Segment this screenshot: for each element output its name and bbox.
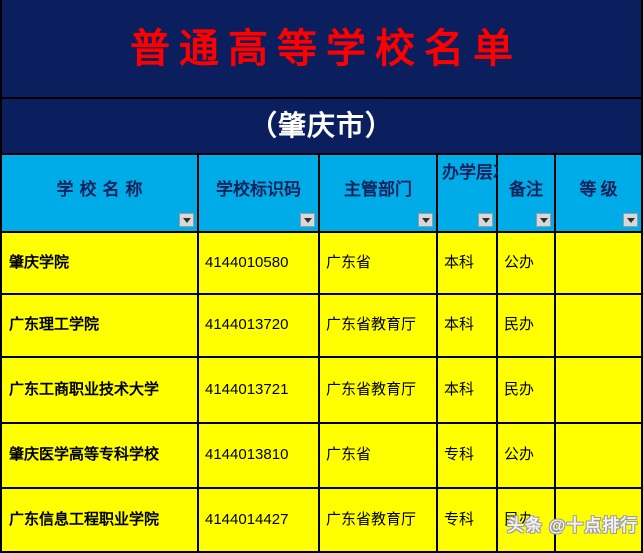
remark-text: 民办 xyxy=(498,315,554,335)
document-title-band: 普通高等学校名单 xyxy=(2,0,641,99)
cell-authority[interactable]: 广东省 xyxy=(319,232,437,294)
remark-text: 公办 xyxy=(498,253,554,273)
table-row: 广东工商职业技术大学 4144013721 广东省教育厅 本科 民办 xyxy=(2,357,641,423)
column-header-level[interactable]: 办学层次 xyxy=(437,155,497,232)
table-row: 肇庆学院 4144010580 广东省 本科 公办 xyxy=(2,232,641,294)
school-name-text: 广东工商职业技术大学 xyxy=(2,380,197,400)
cell-remark[interactable]: 民办 xyxy=(497,294,555,357)
school-code-text: 4144013721 xyxy=(199,380,318,400)
filter-dropdown-icon-remark[interactable] xyxy=(536,213,551,227)
authority-text: 广东省 xyxy=(320,253,436,273)
remark-text: 民办 xyxy=(498,510,554,530)
cell-school-code[interactable]: 4144013720 xyxy=(198,294,319,357)
cell-authority[interactable]: 广东省教育厅 xyxy=(319,357,437,423)
cell-grade[interactable] xyxy=(555,232,641,294)
school-name-text: 广东理工学院 xyxy=(2,315,197,335)
cell-level[interactable]: 专科 xyxy=(437,423,497,488)
cell-school-name[interactable]: 广东理工学院 xyxy=(2,294,198,357)
school-name-text: 肇庆医学高等专科学校 xyxy=(2,445,197,465)
authority-text: 广东省教育厅 xyxy=(320,380,436,400)
level-text: 专科 xyxy=(438,445,496,465)
school-code-text: 4144013720 xyxy=(199,315,318,335)
school-name-text: 广东信息工程职业学院 xyxy=(2,510,197,530)
cell-school-name[interactable]: 肇庆学院 xyxy=(2,232,198,294)
cell-level[interactable]: 专科 xyxy=(437,488,497,552)
column-header-grade[interactable]: 等级 xyxy=(555,155,641,232)
column-header-label: 学校名称 xyxy=(2,155,197,231)
column-header-remark[interactable]: 备注 xyxy=(497,155,555,232)
cell-school-code[interactable]: 4144013810 xyxy=(198,423,319,488)
cell-remark[interactable]: 公办 xyxy=(497,423,555,488)
remark-text: 民办 xyxy=(498,380,554,400)
school-code-text: 4144010580 xyxy=(199,253,318,273)
cell-grade[interactable] xyxy=(555,488,641,552)
school-code-text: 4144013810 xyxy=(199,445,318,465)
cell-school-code[interactable]: 4144013721 xyxy=(198,357,319,423)
cell-grade[interactable] xyxy=(555,423,641,488)
cell-school-name[interactable]: 肇庆医学高等专科学校 xyxy=(2,423,198,488)
column-header-school-code[interactable]: 学校标识码 xyxy=(198,155,319,232)
level-text: 专科 xyxy=(438,510,496,530)
filter-dropdown-icon-level[interactable] xyxy=(478,213,493,227)
table-header-row: 学校名称 学校标识码 主管部门 办学层次 备注 xyxy=(2,155,641,232)
level-text: 本科 xyxy=(438,315,496,335)
level-text: 本科 xyxy=(438,253,496,273)
column-header-school-name[interactable]: 学校名称 xyxy=(2,155,198,232)
cell-authority[interactable]: 广东省 xyxy=(319,423,437,488)
level-text: 本科 xyxy=(438,380,496,400)
table-row: 广东信息工程职业学院 4144014427 广东省教育厅 专科 民办 xyxy=(2,488,641,552)
cell-school-name[interactable]: 广东信息工程职业学院 xyxy=(2,488,198,552)
cell-authority[interactable]: 广东省教育厅 xyxy=(319,488,437,552)
cell-remark[interactable]: 民办 xyxy=(497,357,555,423)
cell-school-name[interactable]: 广东工商职业技术大学 xyxy=(2,357,198,423)
filter-dropdown-icon-school-code[interactable] xyxy=(300,213,315,227)
school-code-text: 4144014427 xyxy=(199,510,318,530)
cell-grade[interactable] xyxy=(555,294,641,357)
cell-school-code[interactable]: 4144014427 xyxy=(198,488,319,552)
cell-remark[interactable]: 公办 xyxy=(497,232,555,294)
cell-level[interactable]: 本科 xyxy=(437,294,497,357)
cell-authority[interactable]: 广东省教育厅 xyxy=(319,294,437,357)
cell-level[interactable]: 本科 xyxy=(437,357,497,423)
authority-text: 广东省教育厅 xyxy=(320,510,436,530)
filter-dropdown-icon-grade[interactable] xyxy=(623,213,638,227)
cell-school-code[interactable]: 4144010580 xyxy=(198,232,319,294)
table-row: 肇庆医学高等专科学校 4144013810 广东省 专科 公办 xyxy=(2,423,641,488)
cell-remark[interactable]: 民办 xyxy=(497,488,555,552)
school-list-table: 学校名称 学校标识码 主管部门 办学层次 备注 xyxy=(2,155,641,553)
document-subtitle-band: （肇庆市） xyxy=(2,99,641,155)
spreadsheet-sheet: 普通高等学校名单 （肇庆市） 学校名称 学校标识码 xyxy=(0,0,643,553)
cell-level[interactable]: 本科 xyxy=(437,232,497,294)
column-header-authority[interactable]: 主管部门 xyxy=(319,155,437,232)
school-name-text: 肇庆学院 xyxy=(2,253,197,273)
authority-text: 广东省教育厅 xyxy=(320,315,436,335)
cell-grade[interactable] xyxy=(555,357,641,423)
filter-dropdown-icon-school-name[interactable] xyxy=(179,213,194,227)
page-subtitle: （肇庆市） xyxy=(249,112,394,140)
authority-text: 广东省 xyxy=(320,445,436,465)
filter-dropdown-icon-authority[interactable] xyxy=(418,213,433,227)
page-title: 普通高等学校名单 xyxy=(121,29,522,69)
remark-text: 公办 xyxy=(498,445,554,465)
table-row: 广东理工学院 4144013720 广东省教育厅 本科 民办 xyxy=(2,294,641,357)
